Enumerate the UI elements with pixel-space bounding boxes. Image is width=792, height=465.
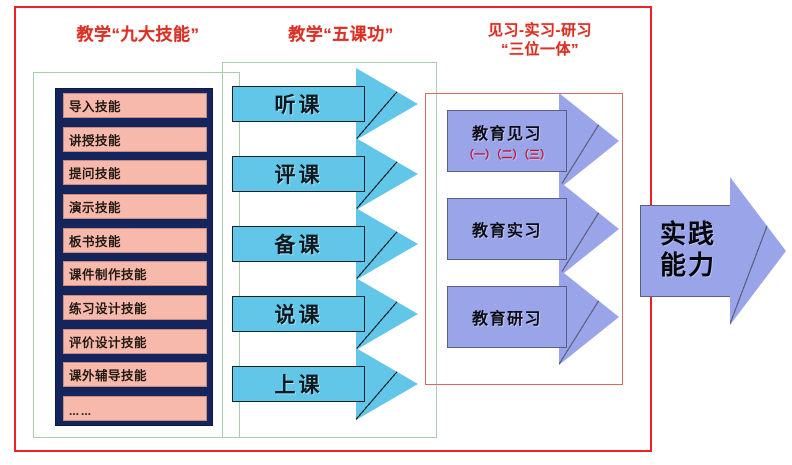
skills-list: 导入技能讲授技能提问技能演示技能板书技能课件制作技能练习设计技能评价设计技能课外… xyxy=(63,93,207,421)
diagram-canvas: 教学“九大技能” 教学“五课功” 见习-实习-研习 “三位一体” 导入技能讲授技… xyxy=(0,0,792,465)
skill-box: 导入技能 xyxy=(63,93,207,118)
lesson-arrow-label: 备课 xyxy=(232,226,365,262)
lesson-arrow-label: 评课 xyxy=(232,156,365,192)
practicum-arrow-head xyxy=(559,181,619,277)
practicum-arrow-title: 教育实习 xyxy=(472,217,542,241)
lesson-arrow-label: 说课 xyxy=(232,296,365,332)
heading-practicum-line2: “三位一体” xyxy=(440,41,640,60)
practicum-arrow-head xyxy=(559,269,619,365)
heading-practicum-line1: 见习-实习-研习 xyxy=(488,22,592,39)
skill-box: 板书技能 xyxy=(63,228,207,253)
practicum-arrow-title: 教育研习 xyxy=(472,305,542,329)
lesson-arrow-head xyxy=(356,278,418,350)
outcome-arrow-head xyxy=(730,177,786,325)
lesson-arrow-label: 听课 xyxy=(232,86,365,122)
lesson-arrow-head xyxy=(356,208,418,280)
lesson-arrow-column: 听课评课备课说课上课 xyxy=(232,86,422,434)
skill-box: 讲授技能 xyxy=(63,127,207,152)
skill-box: …… xyxy=(63,396,207,421)
lesson-arrow-head xyxy=(356,348,418,420)
lesson-arrow-label: 上课 xyxy=(232,366,365,402)
practicum-arrow-subtitle: （一）（二）（三） xyxy=(463,146,551,162)
practicum-arrow-title: 教育见习 xyxy=(472,120,542,144)
skill-box: 提问技能 xyxy=(63,160,207,185)
skill-box: 评价设计技能 xyxy=(63,329,207,354)
lesson-arrow-head xyxy=(356,138,418,210)
heading-five-lesson-skills: 教学“五课功” xyxy=(243,24,439,45)
skill-box: 课外辅导技能 xyxy=(63,362,207,387)
heading-nine-skills: 教学“九大技能” xyxy=(33,24,243,45)
outcome-line1: 实践 xyxy=(660,220,716,251)
practicum-arrow-label: 教育研习 xyxy=(447,286,567,348)
skill-box: 课件制作技能 xyxy=(63,261,207,286)
skill-box: 练习设计技能 xyxy=(63,295,207,320)
practicum-arrow-label: 教育见习（一）（二）（三） xyxy=(447,110,567,172)
practicum-arrow-label: 教育实习 xyxy=(447,198,567,260)
outcome-line2: 能力 xyxy=(660,251,716,282)
watermark xyxy=(638,407,788,463)
practicum-arrow-column: 教育见习（一）（二）（三）教育实习教育研习 xyxy=(447,110,627,380)
heading-practicum-trinity: 见习-实习-研习 “三位一体” xyxy=(440,22,640,60)
outcome-arrow-label: 实践 能力 xyxy=(640,205,736,297)
skill-box: 演示技能 xyxy=(63,194,207,219)
